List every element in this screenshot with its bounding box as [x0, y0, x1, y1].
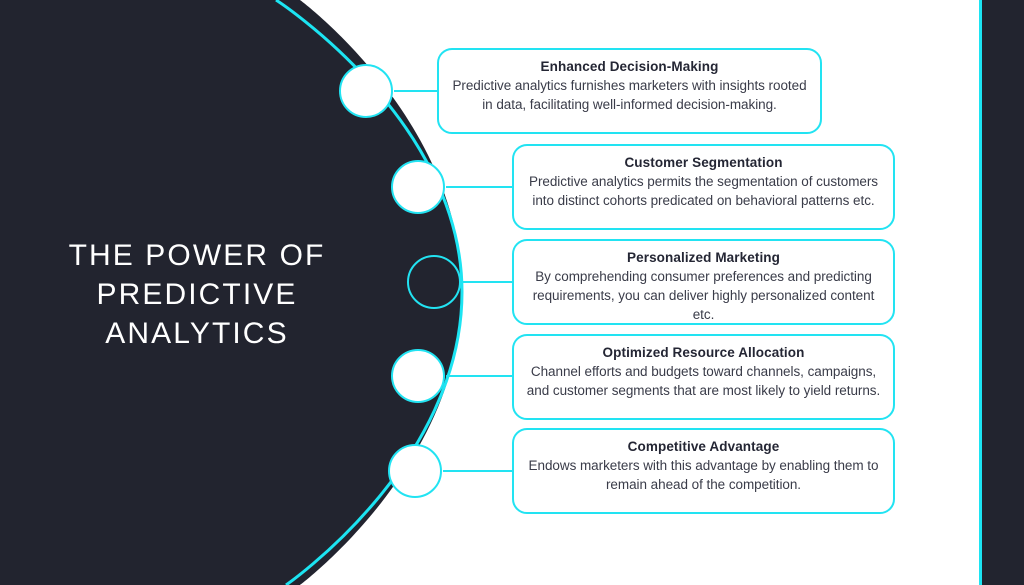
card-title-5: Competitive Advantage [524, 437, 883, 456]
title-line-3: ANALYTICS [34, 314, 360, 353]
infographic-canvas: THE POWER OF PREDICTIVE ANALYTICS Enhanc… [0, 0, 1024, 585]
right-dark-panel [982, 0, 1024, 585]
node-circle-2[interactable] [391, 160, 445, 214]
node-circle-3[interactable] [407, 255, 461, 309]
card-body-2: Predictive analytics permits the segment… [524, 172, 883, 210]
node-circle-4[interactable] [391, 349, 445, 403]
card-customer-segmentation[interactable]: Customer Segmentation Predictive analyti… [512, 144, 895, 230]
title-line-1: THE POWER OF [34, 236, 360, 275]
connector-line-3 [462, 281, 514, 283]
card-title-2: Customer Segmentation [524, 153, 883, 172]
card-body-3: By comprehending consumer preferences an… [524, 267, 883, 324]
connector-line-5 [443, 470, 514, 472]
card-body-5: Endows marketers with this advantage by … [524, 456, 883, 494]
card-competitive-advantage[interactable]: Competitive Advantage Endows marketers w… [512, 428, 895, 514]
card-optimized-resource-allocation[interactable]: Optimized Resource Allocation Channel ef… [512, 334, 895, 420]
card-enhanced-decision-making[interactable]: Enhanced Decision-Making Predictive anal… [437, 48, 822, 134]
title-line-2: PREDICTIVE [34, 275, 360, 314]
page-title: THE POWER OF PREDICTIVE ANALYTICS [34, 236, 360, 353]
card-body-1: Predictive analytics furnishes marketers… [449, 76, 810, 114]
node-circle-5[interactable] [388, 444, 442, 498]
card-body-4: Channel efforts and budgets toward chann… [524, 362, 883, 400]
node-circle-1[interactable] [339, 64, 393, 118]
card-title-4: Optimized Resource Allocation [524, 343, 883, 362]
connector-line-1 [394, 90, 440, 92]
connector-line-4 [446, 375, 514, 377]
card-personalized-marketing[interactable]: Personalized Marketing By comprehending … [512, 239, 895, 325]
card-title-1: Enhanced Decision-Making [449, 57, 810, 76]
connector-line-2 [446, 186, 514, 188]
card-title-3: Personalized Marketing [524, 248, 883, 267]
